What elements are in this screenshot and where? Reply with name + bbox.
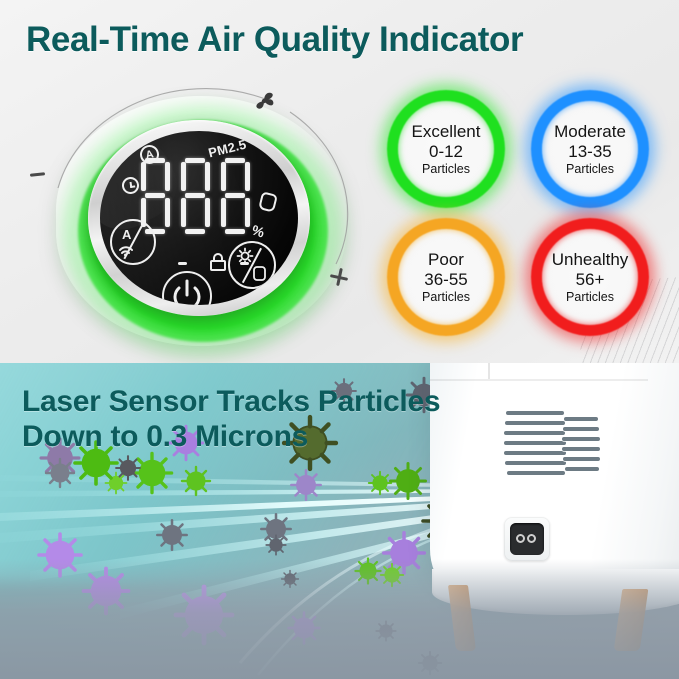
bottom-panel: Laser Sensor Tracks Particles Down to 0.… (0, 363, 679, 679)
quality-badge-poor[interactable]: Poor 36-55 Particles (387, 218, 505, 336)
air-quality-legend: Excellent 0-12 Particles Moderate 13-35 … (383, 88, 663, 350)
badge-level: Moderate (554, 122, 626, 141)
pm25-digits (138, 157, 254, 243)
auto-wifi-button[interactable]: A (110, 219, 156, 265)
badge-range: 0-12 (429, 142, 463, 161)
badge-range: 13-35 (568, 142, 611, 161)
lcd-display: PM2.5 % A (100, 131, 298, 305)
air-intake-vent-right (562, 417, 602, 483)
quality-badge-excellent[interactable]: Excellent 0-12 Particles (387, 90, 505, 208)
filter-icon (258, 191, 278, 212)
badge-range: 56+ (576, 270, 605, 289)
air-intake-vent-left (504, 411, 568, 479)
power-socket-plate (504, 517, 550, 561)
power-icon (164, 273, 210, 305)
fan-icon (251, 89, 277, 113)
page-title: Real-Time Air Quality Indicator (26, 20, 666, 60)
power-button[interactable] (162, 271, 212, 305)
badge-range: 36-55 (424, 270, 467, 289)
bottom-heading-line1: Laser Sensor Tracks Particles (22, 385, 440, 418)
bottom-heading-line2: Down to 0.3 Microns (22, 420, 440, 455)
badge-unit: Particles (566, 290, 614, 304)
infographic-page: Real-Time Air Quality Indicator (0, 0, 679, 679)
badge-unit: Particles (422, 162, 470, 176)
power-inlet-socket (510, 523, 544, 555)
badge-level: Unhealthy (552, 250, 629, 269)
badge-unit: Particles (566, 162, 614, 176)
light-filter-button[interactable] (228, 241, 276, 289)
chrome-bezel: PM2.5 % A (88, 120, 310, 316)
badge-unit: Particles (422, 290, 470, 304)
quality-badge-unhealthy[interactable]: Unhealthy 56+ Particles (531, 218, 649, 336)
badge-level: Poor (428, 250, 464, 269)
svg-text:A: A (122, 227, 132, 242)
quality-badge-moderate[interactable]: Moderate 13-35 Particles (531, 90, 649, 208)
fan-speed-plus-icon[interactable] (330, 268, 348, 286)
badge-level: Excellent (412, 122, 481, 141)
floor-shadow (0, 559, 679, 679)
top-panel: Real-Time Air Quality Indicator (0, 0, 679, 363)
fan-speed-minus-icon[interactable] (30, 172, 45, 177)
digit-tens (180, 157, 212, 235)
dash-left (178, 262, 187, 265)
air-purifier-control-panel: PM2.5 % A (18, 78, 378, 358)
lock-icon (210, 253, 226, 271)
digit-ones (220, 157, 252, 235)
bottom-heading: Laser Sensor Tracks Particles Down to 0.… (22, 385, 440, 455)
